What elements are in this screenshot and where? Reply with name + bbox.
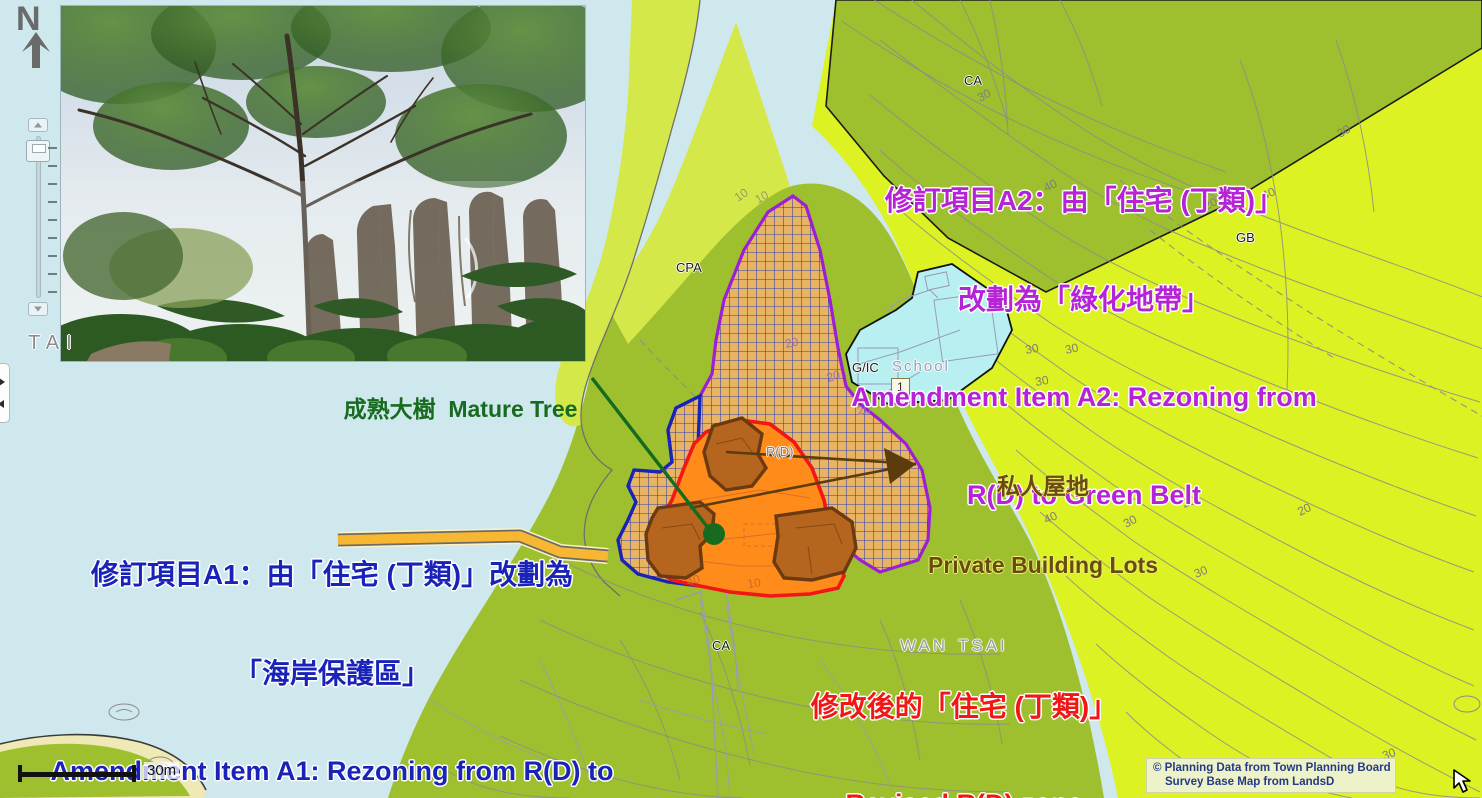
zoom-tick (48, 237, 57, 239)
zone-label-ca-south: CA (712, 638, 730, 653)
zoom-tick (48, 183, 57, 185)
building-lot-south (774, 508, 856, 580)
zoom-tick (48, 255, 57, 257)
photo-illustration (61, 6, 585, 361)
north-letter: N (16, 2, 41, 38)
place-label-tsai: TSAI (958, 636, 1008, 656)
scale-bar: 30m (18, 762, 158, 784)
chevron-right-icon (0, 378, 5, 386)
chevron-left-icon (0, 400, 4, 408)
contour-30-c: 30 (1024, 341, 1040, 357)
attribution-line-2: Survey Base Map from LandsD (1153, 775, 1389, 789)
zoom-slider-thumb[interactable] (26, 140, 50, 162)
north-arrow: N (14, 2, 58, 70)
contour-10-c: 10 (746, 575, 761, 591)
map-viewport[interactable]: 30 30 30 30 30 30 30 20 20 20 20 20 10 2… (0, 0, 1482, 798)
zone-label-rd: R(D) (766, 444, 793, 459)
zone-label-cpa: CPA (676, 260, 702, 275)
zone-label-ca-north: CA (964, 73, 982, 88)
scale-bar-line (18, 772, 136, 777)
school-number-box: 1 (891, 378, 910, 396)
zoom-tick (48, 147, 57, 149)
zoom-tick (48, 219, 57, 221)
place-label-wan: WAN (900, 636, 948, 656)
zoom-slider-control[interactable] (24, 118, 56, 316)
mature-tree-marker (703, 523, 725, 545)
zoom-tick (48, 165, 57, 167)
contour-30-e: 30 (1034, 373, 1050, 389)
scale-bar-label: 30m (144, 762, 179, 779)
zoom-tick (48, 201, 57, 203)
school-label: School (892, 358, 950, 375)
attribution-box: © Planning Data from Town Planning Board… (1146, 758, 1396, 793)
zone-label-gb: GB (1236, 230, 1255, 245)
zoom-tick (48, 273, 57, 275)
panel-toggle[interactable] (0, 363, 10, 423)
zoom-tick (48, 291, 57, 293)
contour-20-e: 20 (856, 402, 872, 418)
zoom-in-button[interactable] (28, 118, 48, 132)
place-label-tai: TAI (28, 332, 79, 355)
attribution-line-1: © Planning Data from Town Planning Board (1153, 761, 1389, 775)
zone-label-gic: G/IC (852, 360, 879, 375)
zoom-out-button[interactable] (28, 302, 48, 316)
mouse-cursor (1452, 768, 1474, 794)
site-photo-mature-tree (60, 5, 586, 362)
